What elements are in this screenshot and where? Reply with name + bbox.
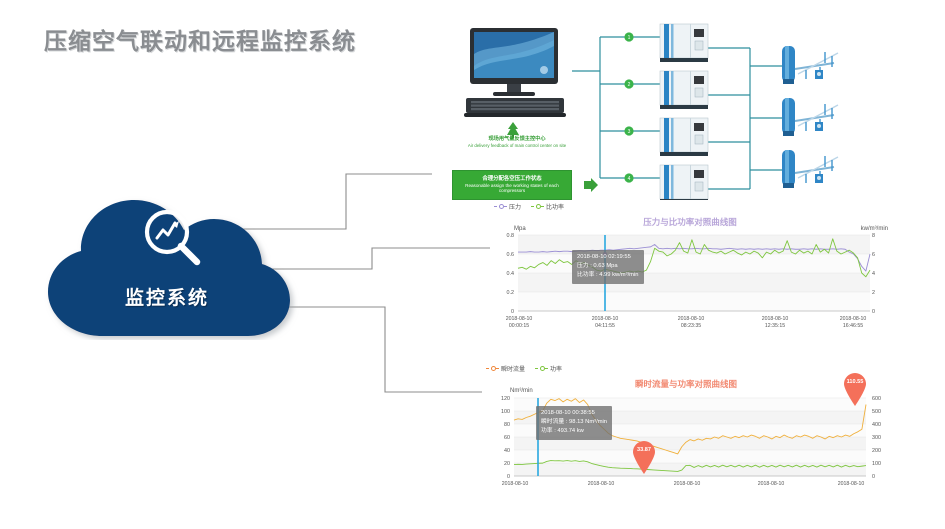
svg-text:4: 4 (628, 176, 631, 182)
chart2-xtick-4: 2018-08-10 (828, 481, 874, 488)
cloud-badge[interactable]: 监控系统 (34, 190, 300, 340)
chart2-xtick-1: 2018-08-10 (578, 481, 624, 488)
chart2-marker-pin-1[interactable]: 110.55 (842, 372, 868, 406)
system-diagram-panel: 现场用气量反馈主控中心 Air delivery feedback of mai… (432, 18, 932, 200)
chart2-xtick-2: 2018-08-10 (664, 481, 710, 488)
chart1-tooltip-line1: 压力 : 0.63 Mpa (577, 262, 639, 271)
chart1-xtick-0: 2018-08-10 00:00:15 (496, 316, 542, 330)
chart1-xtick-4-date: 2018-08-10 (840, 316, 867, 322)
slide-root: 压缩空气联动和远程监控系统 监控系统 (0, 0, 945, 529)
map-pin-icon (842, 372, 868, 406)
svg-text:3: 3 (628, 129, 631, 135)
chart1-plot[interactable] (490, 200, 890, 335)
chart1-tooltip: 2018-08-10 02:19:55 压力 : 0.63 Mpa 比功率 : … (572, 250, 644, 284)
chart2-xtick-0: 2018-08-10 (492, 481, 538, 488)
chart2-tooltip: 2018-08-10 00:38:55 瞬时流量 : 98.13 Nm³/min… (536, 406, 612, 440)
flow-chart-panel: 瞬时流量 功率 瞬时流量与功率对照曲线图 Nm³/min 120 100 80 … (482, 362, 890, 529)
chart2-xtick-3-date: 2018-08-10 (758, 481, 785, 487)
svg-text:1: 1 (628, 35, 631, 41)
chart1-tooltip-timestamp: 2018-08-10 02:19:55 (577, 253, 639, 262)
chart1-xtick-3-time: 12:35:15 (765, 323, 785, 329)
map-pin-icon (631, 440, 657, 474)
chart1-xtick-1-time: 04:11:55 (595, 323, 615, 329)
chart2-tooltip-line1: 瞬时流量 : 98.13 Nm³/min (541, 418, 607, 427)
svg-text:2: 2 (628, 82, 631, 88)
chart1-xtick-1-date: 2018-08-10 (592, 316, 619, 322)
chart2-tooltip-line2: 功率 : 493.74 kw (541, 427, 607, 436)
chart1-xtick-0-time: 00:00:15 (509, 323, 529, 329)
chart1-xtick-3-date: 2018-08-10 (762, 316, 789, 322)
chart1-xtick-2-date: 2018-08-10 (678, 316, 705, 322)
pressure-chart-panel: 压力 比功率 压力与比功率对照曲线图 Mpa kw/m³/min 0.8 0.6… (490, 200, 890, 335)
chart1-xtick-4: 2018-08-10 16:46:55 (830, 316, 876, 330)
chart1-xtick-4-time: 16:46:55 (843, 323, 863, 329)
chart2-marker-label-0: 33.87 (631, 447, 657, 453)
cloud-label: 监控系统 (34, 283, 300, 310)
chart2-xtick-1-date: 2018-08-10 (588, 481, 615, 487)
chart1-tooltip-line2: 比功率 : 4.99 kw/m³/min (577, 271, 639, 280)
compressor-network: 1 2 3 4 (432, 18, 932, 200)
chart2-xtick-3: 2018-08-10 (748, 481, 794, 488)
chart1-xtick-2: 2018-08-10 08:23:35 (668, 316, 714, 330)
chart1-xtick-1: 2018-08-10 04:11:55 (582, 316, 628, 330)
chart1-xtick-2-time: 08:23:35 (681, 323, 701, 329)
chart2-tooltip-timestamp: 2018-08-10 00:38:55 (541, 409, 607, 418)
chart2-marker-pin-0[interactable]: 33.87 (631, 440, 657, 474)
chart1-xtick-0-date: 2018-08-10 (506, 316, 533, 322)
chart2-plot[interactable] (482, 362, 890, 529)
chart2-xtick-4-date: 2018-08-10 (838, 481, 865, 487)
chart2-marker-label-1: 110.55 (842, 379, 868, 385)
page-title: 压缩空气联动和远程监控系统 (44, 22, 356, 56)
chart1-xtick-3: 2018-08-10 12:35:15 (752, 316, 798, 330)
magnifier-chart-icon (140, 206, 206, 270)
chart2-xtick-0-date: 2018-08-10 (502, 481, 529, 487)
chart2-xtick-2-date: 2018-08-10 (674, 481, 701, 487)
